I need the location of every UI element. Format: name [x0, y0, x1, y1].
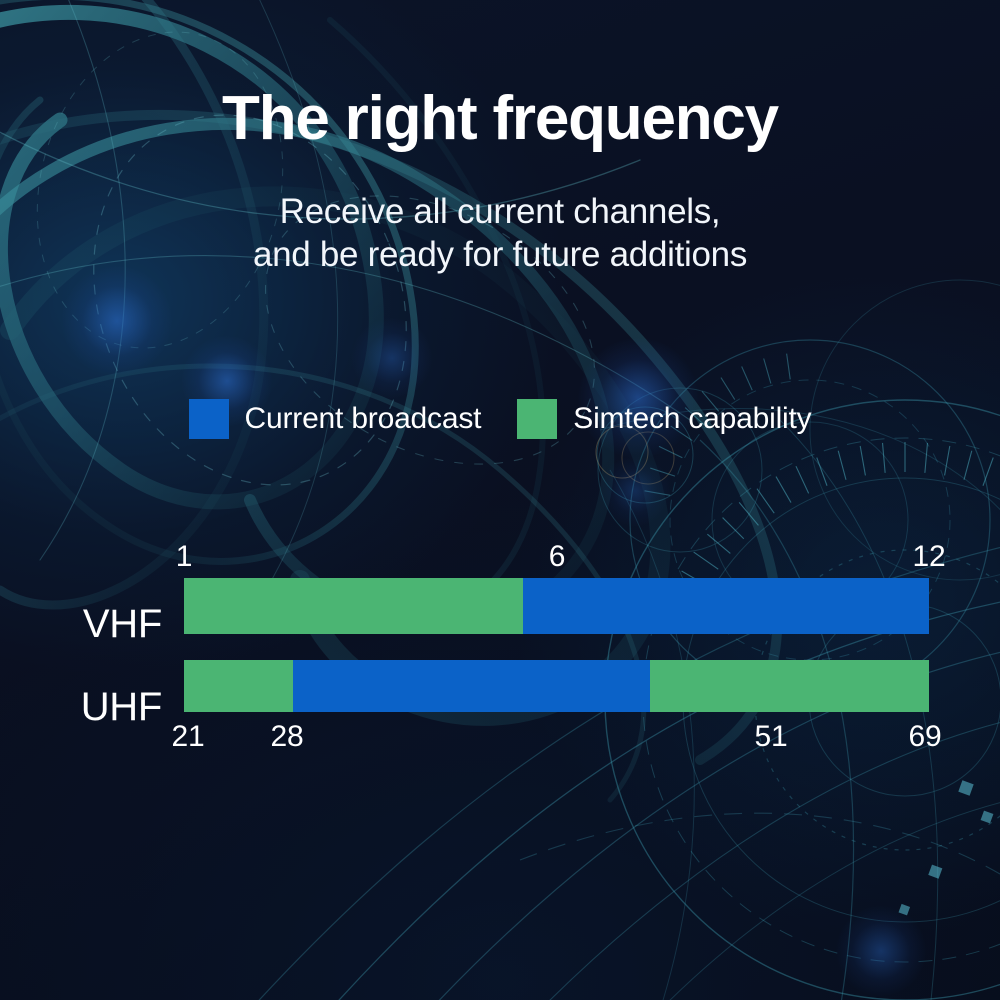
legend-item-simtech-capability: Simtech capability [517, 399, 811, 439]
bar-segment-current-broadcast [523, 578, 929, 634]
bar-row-label-vhf: VHF [2, 602, 162, 647]
tick-label-uhf-69: 69 [909, 720, 942, 754]
legend-label: Simtech capability [573, 402, 811, 436]
tick-label-vhf-6: 6 [549, 540, 566, 574]
square-swatch-icon [189, 399, 229, 439]
tick-label-vhf-1: 1 [176, 540, 193, 574]
bar-segment-simtech-capability [184, 660, 293, 712]
bar-segment-current-broadcast [293, 660, 650, 712]
bar-row-vhf [184, 578, 929, 634]
tick-label-uhf-28: 28 [271, 720, 304, 754]
tick-label-vhf-12: 12 [913, 540, 946, 574]
page-subtitle: Receive all current channels, and be rea… [0, 190, 1000, 276]
square-swatch-icon [517, 399, 557, 439]
bar-segment-simtech-capability [184, 578, 523, 634]
bar-row-label-uhf: UHF [2, 685, 162, 730]
decor-marker-squares [899, 780, 994, 915]
chart-legend: Current broadcast Simtech capability [0, 399, 1000, 439]
bar-row-uhf [184, 660, 929, 712]
frequency-bar-chart: VHF 1 6 12 UHF 21 28 51 69 [0, 530, 1000, 770]
infographic-canvas: The right frequency Receive all current … [0, 0, 1000, 1000]
bar-segment-simtech-capability [650, 660, 929, 712]
page-title: The right frequency [0, 86, 1000, 151]
legend-item-current-broadcast: Current broadcast [189, 399, 482, 439]
tick-label-uhf-51: 51 [755, 720, 788, 754]
legend-label: Current broadcast [245, 402, 482, 436]
tick-label-uhf-21: 21 [172, 720, 205, 754]
